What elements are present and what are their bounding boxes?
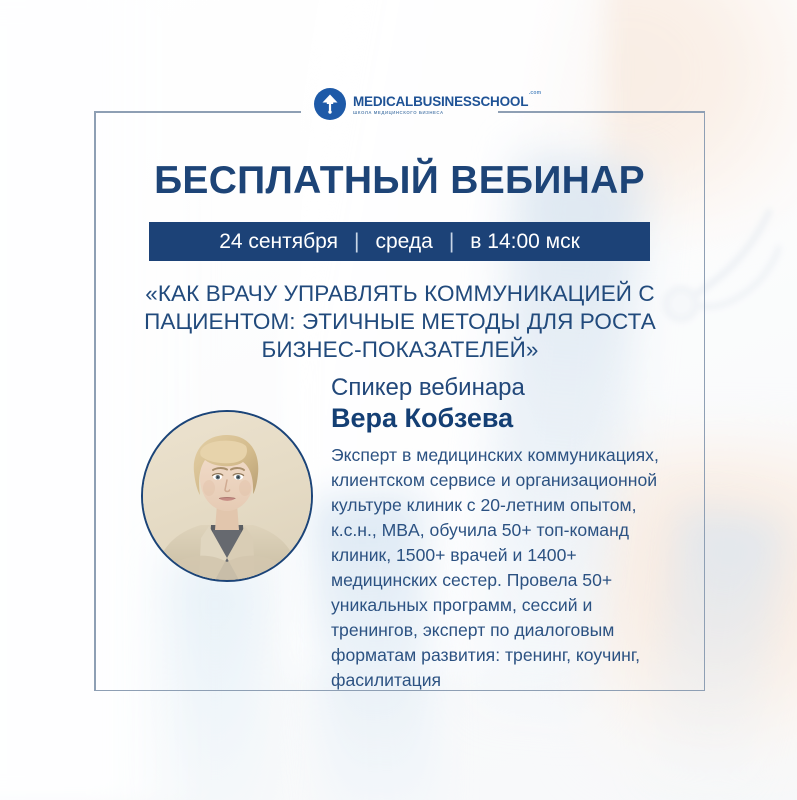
speaker-role-label: Спикер вебинара (331, 375, 525, 401)
logo-tld: .com (529, 90, 541, 96)
event-weekday: среда (375, 230, 432, 254)
event-datetime-banner: 24 сентября | среда | в 14:00 мск (149, 222, 650, 261)
speaker-bio: Эксперт в медицинских коммуникациях, кли… (331, 443, 683, 693)
logo-wordmark: MEDICALBUSINESSCHOOL (353, 95, 528, 109)
page-title: БЕСПЛАТНЫЙ ВЕБИНАР (94, 161, 705, 200)
upward-arrow-in-circle-icon (314, 88, 346, 120)
datebar-separator-2: | (449, 230, 454, 254)
speaker-name: Вера Кобзева (331, 404, 513, 434)
datebar-separator-1: | (354, 230, 359, 254)
speaker-avatar (141, 410, 313, 582)
brand-logo[interactable]: MEDICALBUSINESSCHOOL .com ШКОЛА МЕДИЦИНС… (314, 88, 528, 120)
webinar-topic: «КАК ВРАЧУ УПРАВЛЯТЬ КОММУНИКАЦИЕЙ С ПАЦ… (124, 280, 676, 364)
event-date: 24 сентября (219, 230, 338, 254)
webinar-poster: MEDICALBUSINESSCHOOL .com ШКОЛА МЕДИЦИНС… (0, 0, 797, 800)
speaker-photo (143, 412, 311, 580)
logo-subtitle: ШКОЛА МЕДИЦИНСКОГО БИЗНЕСА (353, 111, 528, 115)
logo-text-block: MEDICALBUSINESSCHOOL .com ШКОЛА МЕДИЦИНС… (353, 93, 528, 116)
event-time: в 14:00 мск (470, 230, 580, 254)
